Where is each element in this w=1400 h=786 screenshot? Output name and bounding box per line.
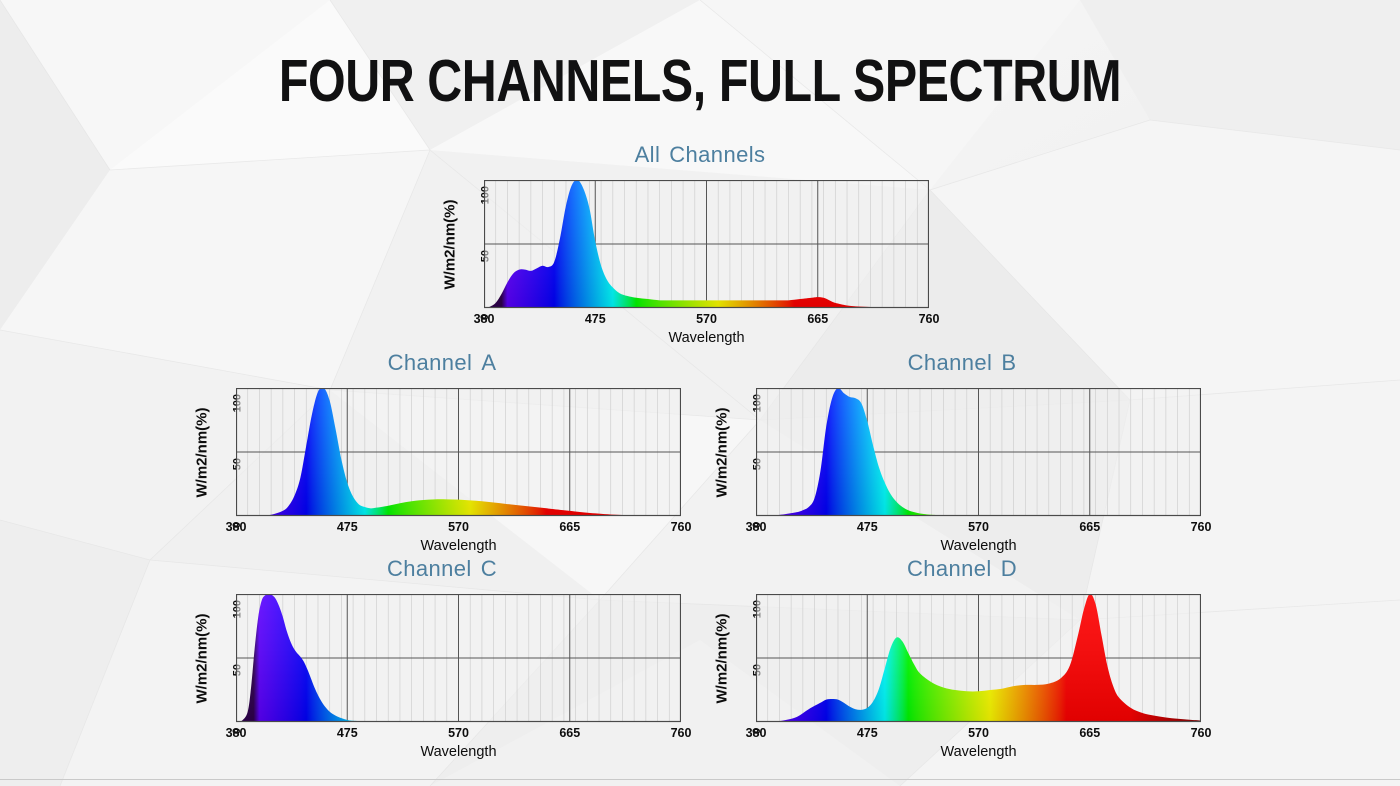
x-axis-tick: 475	[337, 726, 358, 740]
chart-channel-a: ChannelAW/m2/nm(%)050100380475570665760W…	[192, 350, 692, 556]
x-axis-tick: 475	[857, 520, 878, 534]
x-axis-ticks: 380475570665760	[756, 726, 1201, 742]
x-axis-tick: 380	[746, 520, 767, 534]
chart-title-word: Channels	[669, 142, 765, 167]
page-title: FOUR CHANNELS, FULL SPECTRUM	[126, 50, 1274, 112]
y-axis-label-text: W/m2/nm(%)	[714, 407, 731, 497]
chart-channel-c: ChannelCW/m2/nm(%)050100380475570665760W…	[192, 556, 692, 762]
y-axis-ticks: 050100	[214, 594, 232, 722]
x-axis-tick: 570	[968, 726, 989, 740]
plot-area	[236, 594, 681, 723]
x-axis-ticks: 380475570665760	[756, 520, 1201, 536]
x-axis-ticks: 380475570665760	[236, 726, 681, 742]
x-axis-tick: 475	[857, 726, 878, 740]
x-axis-tick: 760	[671, 726, 692, 740]
y-axis-ticks: 050100	[462, 180, 480, 308]
x-axis-tick: 665	[1079, 726, 1100, 740]
x-axis-tick: 665	[1079, 520, 1100, 534]
y-axis-ticks: 050100	[734, 594, 752, 722]
x-axis-tick: 665	[807, 312, 828, 326]
x-axis-label: Wavelength	[484, 330, 929, 346]
y-axis-label-text: W/m2/nm(%)	[442, 199, 459, 289]
x-axis-tick: 380	[226, 726, 247, 740]
chart-title-word: Channel	[388, 350, 473, 375]
y-axis-label: W/m2/nm(%)	[440, 180, 460, 308]
bottom-divider	[0, 779, 1400, 780]
chart-title: ChannelA	[192, 350, 692, 376]
x-axis-tick: 475	[585, 312, 606, 326]
chart-title-word: A	[481, 350, 496, 375]
x-axis-tick: 760	[919, 312, 940, 326]
y-axis-label: W/m2/nm(%)	[192, 388, 212, 516]
chart-title-word: Channel	[387, 556, 472, 581]
chart-title-word: D	[1001, 556, 1017, 581]
x-axis-tick: 570	[968, 520, 989, 534]
x-axis-tick: 570	[448, 726, 469, 740]
y-axis-ticks: 050100	[734, 388, 752, 516]
x-axis-tick: 380	[746, 726, 767, 740]
plot-area	[756, 594, 1201, 723]
x-axis-label: Wavelength	[756, 538, 1201, 554]
chart-channel-d: ChannelDW/m2/nm(%)050100380475570665760W…	[712, 556, 1212, 762]
y-axis-label: W/m2/nm(%)	[712, 388, 732, 516]
chart-title-word: C	[481, 556, 497, 581]
plot-area	[236, 388, 681, 517]
chart-title: ChannelD	[712, 556, 1212, 582]
y-axis-label-text: W/m2/nm(%)	[194, 407, 211, 497]
x-axis-tick: 380	[226, 520, 247, 534]
y-axis-label-text: W/m2/nm(%)	[194, 613, 211, 703]
chart-title: ChannelC	[192, 556, 692, 582]
x-axis-tick: 665	[559, 520, 580, 534]
x-axis-tick: 760	[1191, 726, 1212, 740]
y-axis-label-text: W/m2/nm(%)	[714, 613, 731, 703]
plot-area	[756, 388, 1201, 517]
x-axis-label: Wavelength	[236, 744, 681, 760]
x-axis-tick: 570	[696, 312, 717, 326]
chart-title: AllChannels	[440, 142, 960, 168]
chart-title-word: Channel	[908, 350, 993, 375]
y-axis-label: W/m2/nm(%)	[192, 594, 212, 722]
x-axis-tick: 665	[559, 726, 580, 740]
x-axis-tick: 760	[1191, 520, 1212, 534]
chart-title-word: All	[635, 142, 661, 167]
x-axis-tick: 760	[671, 520, 692, 534]
x-axis-tick: 570	[448, 520, 469, 534]
chart-channel-b: ChannelBW/m2/nm(%)050100380475570665760W…	[712, 350, 1212, 556]
x-axis-ticks: 380475570665760	[484, 312, 929, 328]
x-axis-label: Wavelength	[236, 538, 681, 554]
x-axis-ticks: 380475570665760	[236, 520, 681, 536]
chart-title-word: Channel	[907, 556, 992, 581]
chart-title-word: B	[1001, 350, 1016, 375]
y-axis-ticks: 050100	[214, 388, 232, 516]
x-axis-tick: 475	[337, 520, 358, 534]
x-axis-tick: 380	[474, 312, 495, 326]
chart-title: ChannelB	[712, 350, 1212, 376]
chart-all-channels: AllChannelsW/m2/nm(%)0501003804755706657…	[440, 142, 960, 348]
plot-area	[484, 180, 929, 309]
x-axis-label: Wavelength	[756, 744, 1201, 760]
y-axis-label: W/m2/nm(%)	[712, 594, 732, 722]
